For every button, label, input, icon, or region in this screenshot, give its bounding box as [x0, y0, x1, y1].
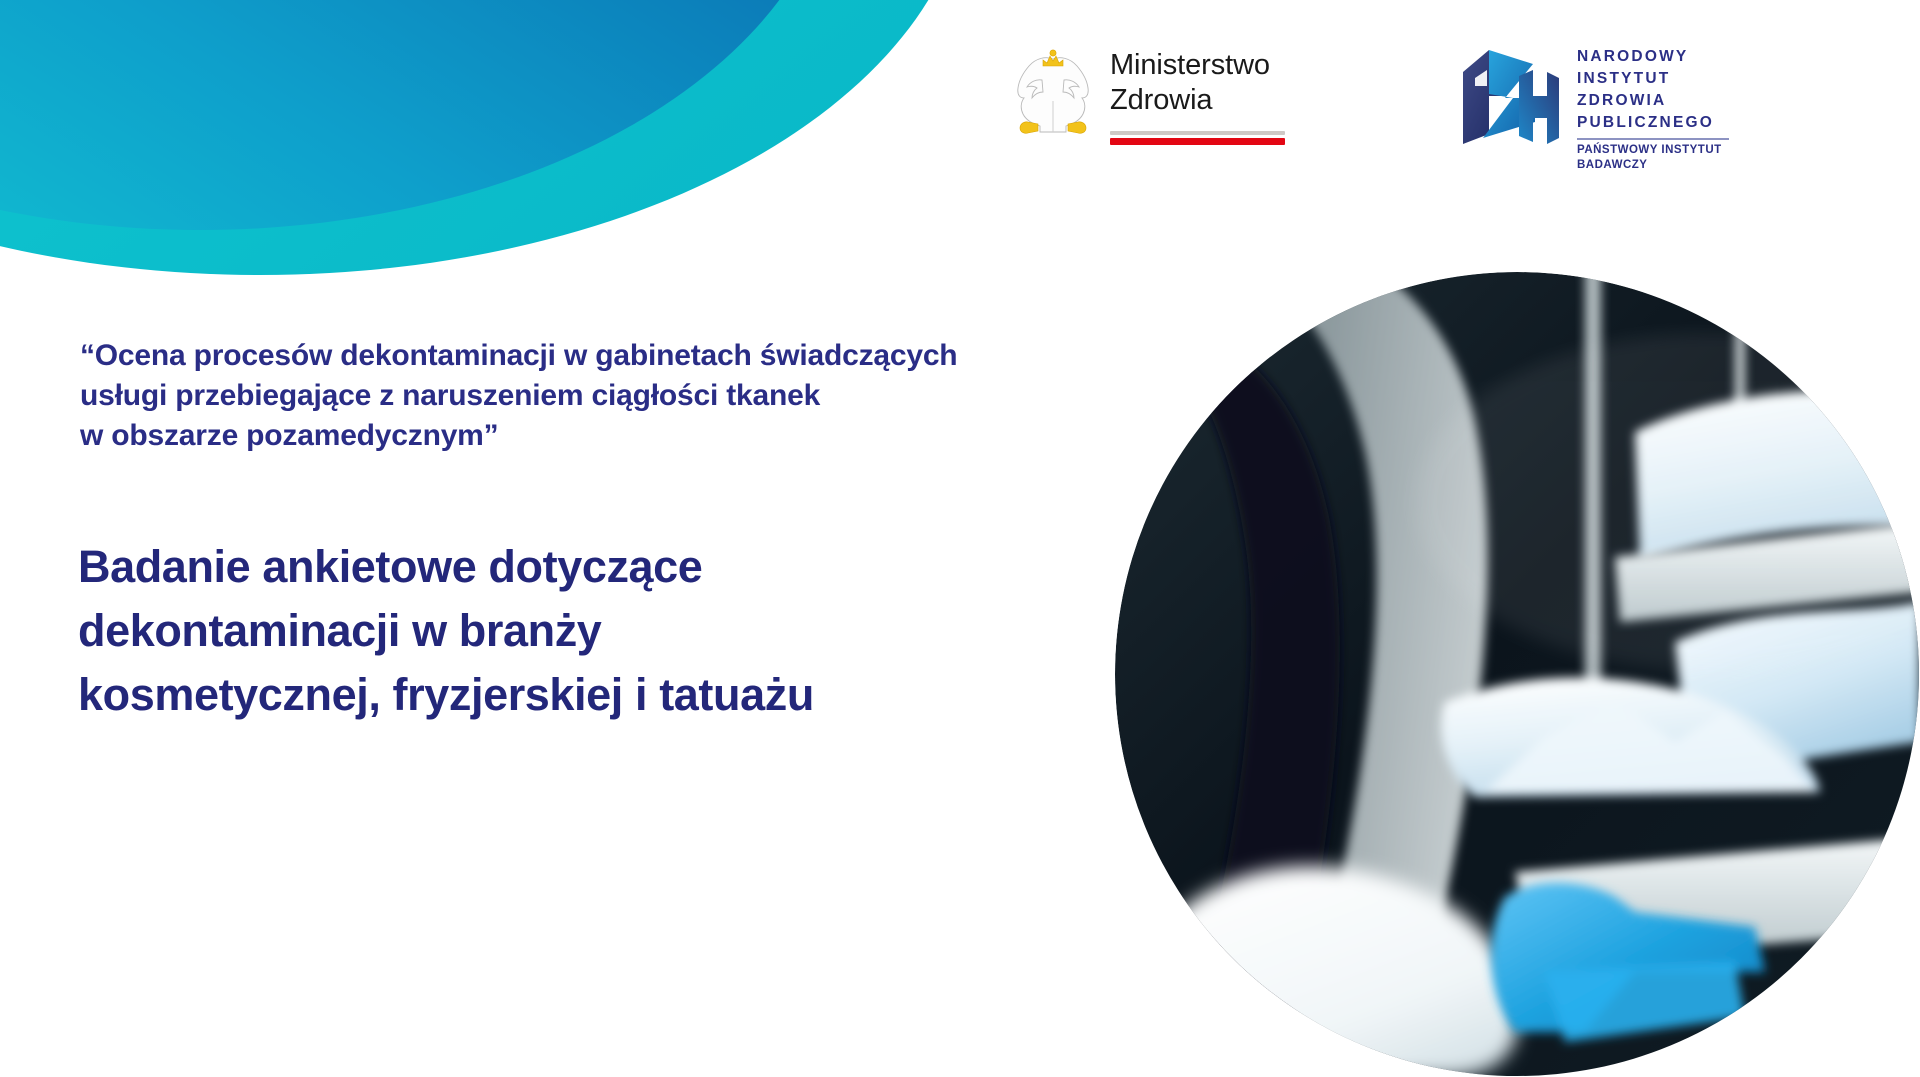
ministry-line-1: Ministerstwo: [1110, 48, 1285, 83]
photo-illustration: [1115, 272, 1920, 1077]
project-title-quote: “Ocena procesów dekontaminacji w gabinet…: [80, 336, 1170, 456]
nizp-pzh-logo: NARODOWY INSTYTUT ZDROWIA PUBLICZNEGO PA…: [1455, 40, 1729, 173]
nizp-line-2: INSTYTUT: [1577, 68, 1729, 90]
polish-flag-bar: [1110, 131, 1285, 145]
decor-blobs: [0, 0, 1060, 290]
flag-stripe-white: [1110, 131, 1285, 135]
heading-line-1: Badanie ankietowe dotyczące: [78, 535, 1138, 599]
header-logos: Ministerstwo Zdrowia: [1010, 40, 1830, 165]
nizp-line-1: NARODOWY: [1577, 46, 1729, 68]
autoclave-sterilization-photo: [1115, 272, 1920, 1077]
decor-blob-svg: [0, 0, 1060, 290]
quote-line-1: “Ocena procesów dekontaminacji w gabinet…: [80, 336, 1170, 376]
flag-stripe-red: [1110, 138, 1285, 145]
nizp-sub-2: BADAWCZY: [1577, 158, 1729, 173]
quote-line-3: w obszarze pozamedycznym”: [80, 416, 1170, 456]
nizp-sub-1: PAŃSTWOWY INSTYTUT: [1577, 143, 1729, 158]
quote-line-2: usługi przebiegające z naruszeniem ciągł…: [80, 376, 1170, 416]
ministry-wordmark: Ministerstwo Zdrowia: [1110, 40, 1285, 145]
inner-blue-blob: [0, 0, 840, 230]
pzh-monogram-icon: [1455, 42, 1563, 152]
nizp-divider: [1577, 138, 1729, 140]
ministry-line-2: Zdrowia: [1110, 83, 1285, 118]
nizp-line-4: PUBLICZNEGO: [1577, 112, 1729, 134]
page-title: Badanie ankietowe dotyczące dekontaminac…: [78, 535, 1138, 727]
heading-line-2: dekontaminacji w branży: [78, 599, 1138, 663]
nizp-wordmark: NARODOWY INSTYTUT ZDROWIA PUBLICZNEGO PA…: [1577, 40, 1729, 173]
polish-eagle-emblem-icon: [1010, 46, 1096, 141]
nizp-line-3: ZDROWIA: [1577, 90, 1729, 112]
outer-teal-blob: [0, 0, 970, 275]
heading-line-3: kosmetycznej, fryzjerskiej i tatuażu: [78, 663, 1138, 727]
ministry-of-health-logo: Ministerstwo Zdrowia: [1010, 40, 1285, 145]
